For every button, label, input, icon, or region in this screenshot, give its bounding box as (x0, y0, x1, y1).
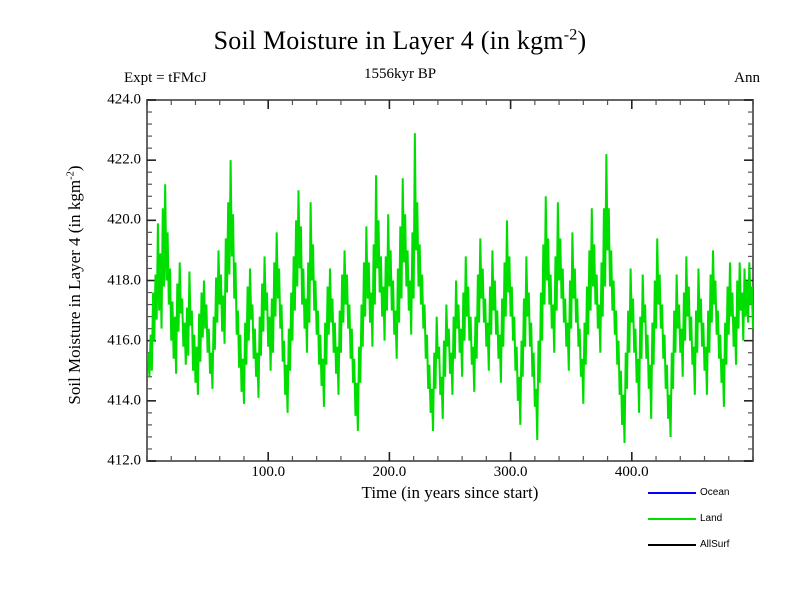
legend: OceanLandAllSurf (648, 486, 798, 566)
legend-item-ocean[interactable]: Ocean (648, 486, 798, 500)
legend-label: Ocean (700, 486, 729, 499)
legend-item-land[interactable]: Land (648, 512, 798, 526)
chart-page: Soil Moisture in Layer 4 (in kgm-2) 1556… (0, 0, 800, 600)
legend-item-allsurf[interactable]: AllSurf (648, 538, 798, 552)
legend-label: AllSurf (700, 538, 729, 551)
legend-swatch-allsurf (648, 544, 696, 546)
legend-swatch-land (648, 518, 696, 520)
series-land (148, 133, 753, 443)
legend-label: Land (700, 512, 722, 525)
legend-swatch-ocean (648, 492, 696, 494)
